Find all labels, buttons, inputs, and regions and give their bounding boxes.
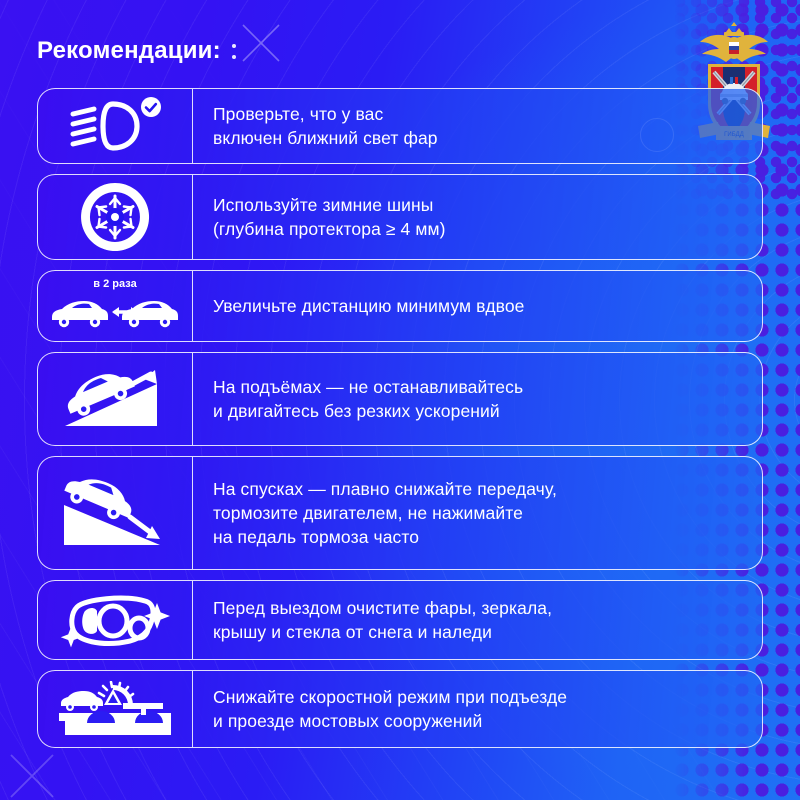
text-cell-2: Используйте зимние шины (глубина протект… [193, 175, 762, 259]
recommendation-card-2[interactable]: Используйте зимние шины (глубина протект… [37, 174, 763, 260]
recommendation-card-3[interactable]: в 2 раза [37, 270, 763, 342]
recommendation-text-1: Проверьте, что у вас включен ближний све… [213, 102, 438, 150]
poster-root: Рекомендации: ГИБДД [0, 0, 800, 800]
icon-cell-1 [38, 89, 193, 163]
recommendation-card-7[interactable]: Снижайте скоростной режим при подъезде и… [37, 670, 763, 748]
low-beam-headlight-check-icon [63, 96, 167, 156]
dot-decoration-1 [232, 44, 236, 48]
two-cars-distance-icon [50, 295, 180, 329]
text-cell-1: Проверьте, что у вас включен ближний све… [193, 89, 762, 163]
recommendation-text-3: Увеличьте дистанцию минимум вдвое [213, 294, 525, 318]
recommendation-text-4: На подъёмах — не останавливайтесь и двиг… [213, 375, 523, 423]
recommendation-card-4[interactable]: На подъёмах — не останавливайтесь и двиг… [37, 352, 763, 446]
recommendation-card-5[interactable]: На спусках — плавно снижайте передачу, т… [37, 456, 763, 570]
dot-decoration-2 [232, 55, 236, 59]
recommendation-text-5: На спусках — плавно снижайте передачу, т… [213, 477, 557, 549]
recommendation-card-6[interactable]: Перед выездом очистите фары, зеркала, кр… [37, 580, 763, 660]
car-uphill-arrow-icon [59, 366, 171, 432]
text-cell-7: Снижайте скоростной режим при подъезде и… [193, 671, 762, 747]
page-title: Рекомендации: [37, 37, 221, 65]
cross-decoration-icon [240, 22, 282, 64]
icon-cell-7 [38, 671, 193, 747]
text-cell-3: Увеличьте дистанцию минимум вдвое [193, 271, 762, 341]
icon-cell-2 [38, 175, 193, 259]
icon-cell-6 [38, 581, 193, 659]
car-on-bridge-speed-icon [57, 681, 173, 737]
recommendation-list: Проверьте, что у вас включен ближний све… [37, 88, 763, 758]
cross-decoration-icon-bottom [8, 752, 56, 800]
text-cell-4: На подъёмах — не останавливайтесь и двиг… [193, 353, 762, 445]
car-downhill-arrow-icon [56, 473, 174, 553]
recommendation-text-6: Перед выездом очистите фары, зеркала, кр… [213, 596, 552, 644]
recommendation-text-7: Снижайте скоростной режим при подъезде и… [213, 685, 567, 733]
text-cell-6: Перед выездом очистите фары, зеркала, кр… [193, 581, 762, 659]
recommendation-text-2: Используйте зимние шины (глубина протект… [213, 193, 446, 241]
icon-cell-4 [38, 353, 193, 445]
clean-headlight-sparkle-icon [59, 589, 171, 651]
winter-tire-snowflake-icon [80, 182, 150, 252]
text-cell-5: На спусках — плавно снижайте передачу, т… [193, 457, 762, 569]
recommendation-card-1[interactable]: Проверьте, что у вас включен ближний све… [37, 88, 763, 164]
icon-cell-5 [38, 457, 193, 569]
distance-badge: в 2 раза [93, 278, 136, 290]
icon-cell-3: в 2 раза [38, 271, 193, 341]
